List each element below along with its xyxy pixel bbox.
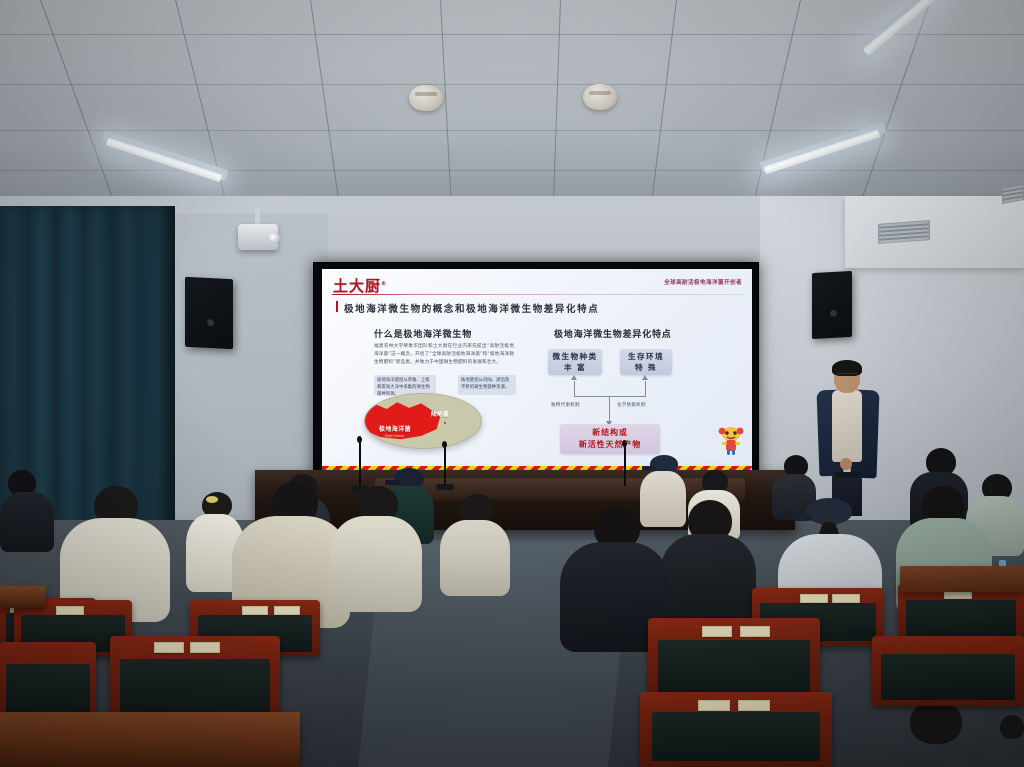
diagram-box-species: 微生物种类 丰 富 bbox=[548, 349, 602, 375]
projector-lens bbox=[268, 232, 280, 244]
diagram-caption-defense: 化学防御机制 bbox=[617, 402, 646, 408]
wall-speaker-right bbox=[812, 271, 852, 339]
audience-member bbox=[440, 494, 510, 590]
registered-mark-icon: ® bbox=[381, 281, 387, 287]
diagram-result-line2: 新活性天然产物 bbox=[579, 439, 641, 451]
diagram-arrow-up bbox=[642, 375, 648, 380]
microphone-head bbox=[622, 440, 627, 447]
diagram-result-line1: 新结构或 bbox=[592, 427, 628, 439]
presenter-belt bbox=[834, 472, 860, 478]
ceiling-grid-line bbox=[0, 170, 1024, 171]
note-box-land: 陆地菌指从内陆、湖泊及平原的微生物菌种资源。 bbox=[458, 375, 516, 395]
microphone-head bbox=[442, 441, 447, 448]
slide-title: 极地海洋微生物的概念和极地海洋微生物差异化特点 bbox=[344, 301, 599, 315]
diagram-arrow-up bbox=[571, 375, 577, 380]
presenter-hand bbox=[840, 458, 852, 470]
diagram-connector bbox=[645, 381, 646, 397]
globe-ocean-label: 极地海洋菌 bbox=[379, 424, 411, 433]
audience-body bbox=[0, 492, 54, 552]
seat-number-label bbox=[738, 700, 770, 711]
microphone-stem bbox=[624, 444, 626, 486]
seat-cushion bbox=[881, 654, 1015, 700]
left-wall-panel bbox=[168, 214, 328, 514]
seat-cushion bbox=[120, 659, 270, 718]
diagram-box-environment-line2: 特 殊 bbox=[635, 362, 657, 373]
note-box-ocean: 极地海洋菌指从单独、上极和南海大洋中采集的微生物菌种资源。 bbox=[374, 375, 436, 395]
cap bbox=[394, 468, 424, 488]
brand-tagline: 全球高耐活极地海洋菌开创者 bbox=[664, 278, 742, 286]
presenter-shirt bbox=[832, 390, 862, 462]
seat-number-label bbox=[740, 626, 770, 637]
diagram-box-environment-line1: 生存环境 bbox=[628, 351, 664, 362]
ceiling-grid-line bbox=[0, 84, 1024, 85]
ceiling-soffit bbox=[845, 196, 1024, 268]
auditorium-seat[interactable] bbox=[898, 584, 1024, 644]
globe-ocean-sublabel: Polar Ocean bbox=[385, 434, 404, 438]
diagram-box-species-line2: 丰 富 bbox=[564, 362, 586, 373]
desk-surface bbox=[0, 712, 300, 767]
microphone-head bbox=[357, 436, 362, 443]
globe-illustration: 陆地菌 极地海洋菌 Polar Ocean bbox=[364, 393, 482, 449]
seat-number-label bbox=[698, 700, 730, 711]
ceiling-grid-line bbox=[0, 34, 1024, 35]
presentation-slide: 土大厨® 全球高耐活极地海洋菌开创者 极地海洋微生物的概念和极地海洋微生物差异化… bbox=[322, 269, 752, 479]
audience-head bbox=[910, 700, 962, 744]
seat-number-label bbox=[242, 606, 268, 615]
microphone-stem bbox=[444, 445, 446, 487]
cap-brim bbox=[385, 480, 400, 485]
brand-logo-text: 土大厨 bbox=[333, 277, 381, 295]
diagram-connector bbox=[574, 381, 575, 397]
seat-number-label bbox=[274, 606, 300, 615]
diagram-caption-metabolism: 独特代谢机制 bbox=[551, 402, 580, 408]
presenter[interactable] bbox=[812, 362, 884, 512]
globe-land-label: 陆地菌 bbox=[431, 410, 449, 418]
audience-body bbox=[440, 520, 510, 596]
desk-surface bbox=[900, 566, 1024, 592]
audience-body bbox=[330, 516, 422, 612]
auditorium-seat[interactable] bbox=[872, 636, 1024, 706]
audience-member bbox=[330, 486, 422, 606]
left-column-paragraph: 福建农林大学柴象华团队和土大厨在行业内率先提出“高耐活极地海洋菌”这一概念，开创… bbox=[374, 343, 514, 367]
desk-surface bbox=[0, 586, 46, 608]
seat-number-label bbox=[190, 642, 220, 653]
seat-cushion bbox=[652, 712, 821, 762]
diagram-result-box: 新结构或 新活性天然产物 bbox=[560, 424, 660, 454]
audience-member bbox=[866, 700, 996, 767]
right-column-heading: 极地海洋微生物差异化特点 bbox=[554, 327, 672, 340]
audience-member bbox=[0, 470, 54, 550]
seat-cushion bbox=[658, 640, 809, 697]
seat-cushion bbox=[906, 600, 1017, 640]
mascot-icon bbox=[716, 425, 746, 457]
fluorescent-tube-light bbox=[764, 130, 881, 175]
auditorium-seat[interactable] bbox=[640, 692, 832, 767]
header-divider bbox=[332, 294, 744, 295]
microphone-stem bbox=[359, 440, 361, 490]
wall-speaker-left bbox=[185, 277, 233, 350]
smoke-detector bbox=[409, 85, 443, 111]
lecture-hall-scene: 土大厨® 全球高耐活极地海洋菌开创者 极地海洋微生物的概念和极地海洋微生物差异化… bbox=[0, 0, 1024, 767]
audience-head bbox=[1000, 715, 1024, 739]
hair-clip bbox=[206, 496, 218, 503]
smoke-detector bbox=[583, 84, 617, 110]
projection-screen[interactable]: 土大厨® 全球高耐活极地海洋菌开创者 极地海洋微生物的概念和极地海洋微生物差异化… bbox=[313, 262, 759, 492]
left-column-heading: 什么是极地海洋微生物 bbox=[374, 327, 472, 340]
diagram-connector bbox=[609, 396, 610, 422]
diagram-box-species-line1: 微生物种类 bbox=[553, 351, 598, 362]
audience-member bbox=[60, 486, 170, 616]
seat-number-label bbox=[56, 606, 84, 615]
brand-logo: 土大厨® bbox=[333, 275, 387, 296]
air-vent bbox=[878, 220, 930, 244]
glasses-icon bbox=[836, 373, 858, 377]
audience-member bbox=[660, 500, 756, 630]
audience-member bbox=[1000, 715, 1024, 767]
title-accent-bar bbox=[336, 301, 338, 312]
cap-brim bbox=[794, 514, 812, 521]
seat-number-label bbox=[832, 594, 860, 603]
seat-number-label bbox=[800, 594, 828, 603]
seat-number-label bbox=[154, 642, 184, 653]
fluorescent-tube-light bbox=[106, 138, 223, 183]
microphone-base bbox=[436, 484, 454, 490]
seat-number-label bbox=[702, 626, 732, 637]
diagram-box-environment: 生存环境 特 殊 bbox=[620, 349, 672, 375]
globe-marker-dot bbox=[444, 422, 446, 424]
